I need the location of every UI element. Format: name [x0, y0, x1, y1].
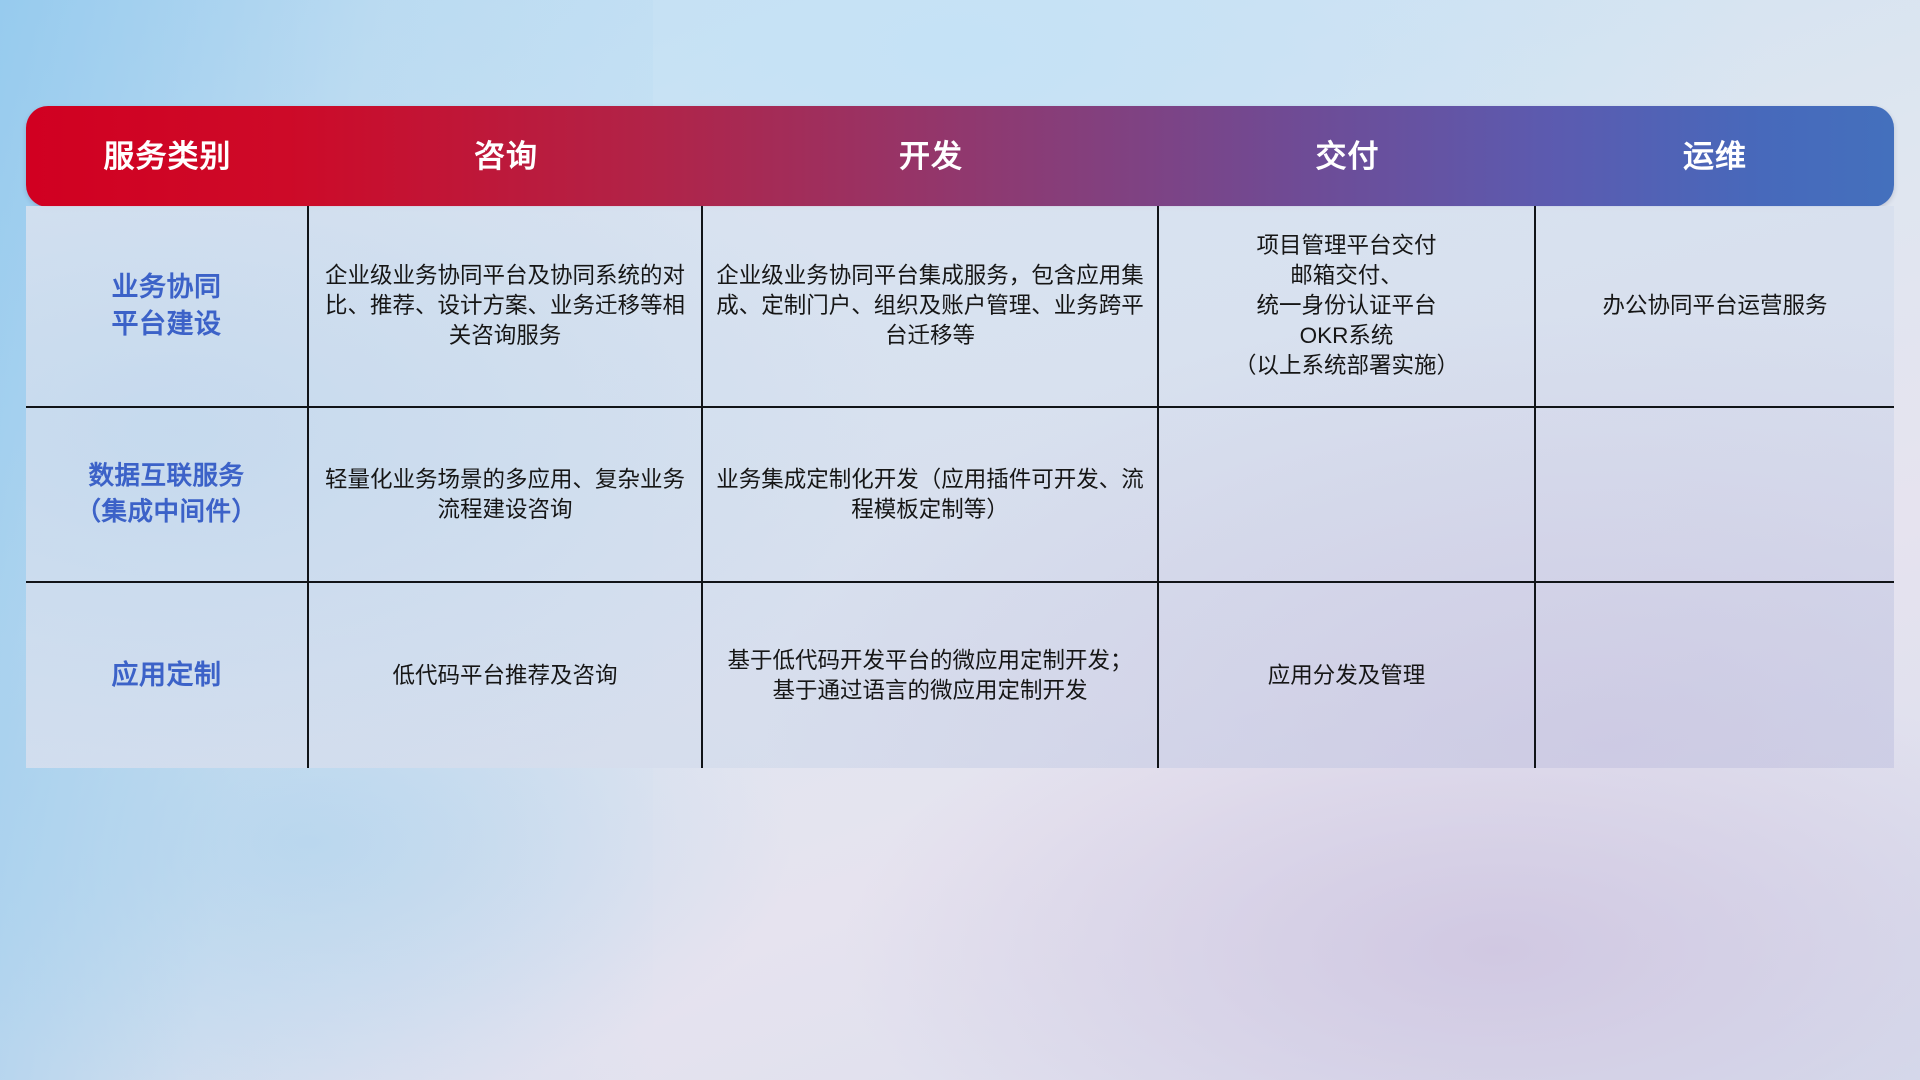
cell-consulting-row1: 企业级业务协同平台及协同系统的对比、推荐、设计方案、业务迁移等相关咨询服务	[309, 206, 703, 406]
cell-development-row2: 业务集成定制化开发（应用插件可开发、流程模板定制等）	[703, 406, 1159, 581]
column-header-delivery: 交付	[1159, 141, 1536, 172]
column-header-operations: 运维	[1536, 141, 1894, 172]
cell-delivery-row3: 应用分发及管理	[1159, 581, 1536, 768]
table-row: 业务协同 平台建设 企业级业务协同平台及协同系统的对比、推荐、设计方案、业务迁移…	[26, 206, 1894, 406]
cell-operations-row1: 办公协同平台运营服务	[1536, 206, 1894, 406]
cell-delivery-row2	[1159, 406, 1536, 581]
table-row: 数据互联服务 （集成中间件） 轻量化业务场景的多应用、复杂业务流程建设咨询 业务…	[26, 406, 1894, 581]
row-label-app-customization: 应用定制	[26, 581, 309, 768]
column-header-development: 开发	[703, 141, 1159, 172]
table-body: 业务协同 平台建设 企业级业务协同平台及协同系统的对比、推荐、设计方案、业务迁移…	[26, 206, 1894, 768]
cell-operations-row3	[1536, 581, 1894, 768]
row-label-data-interconnect: 数据互联服务 （集成中间件）	[26, 406, 309, 581]
cell-consulting-row3: 低代码平台推荐及咨询	[309, 581, 703, 768]
cell-operations-row2	[1536, 406, 1894, 581]
table-row: 应用定制 低代码平台推荐及咨询 基于低代码开发平台的微应用定制开发； 基于通过语…	[26, 581, 1894, 768]
cell-development-row3: 基于低代码开发平台的微应用定制开发； 基于通过语言的微应用定制开发	[703, 581, 1159, 768]
service-matrix-table: 服务类别 咨询 开发 交付 运维 业务协同 平台建设 企业级业务协同平台及协同系…	[26, 106, 1894, 768]
cell-delivery-row1: 项目管理平台交付 邮箱交付、 统一身份认证平台 OKR系统 （以上系统部署实施）	[1159, 206, 1536, 406]
column-header-consulting: 咨询	[309, 141, 703, 172]
cell-consulting-row2: 轻量化业务场景的多应用、复杂业务流程建设咨询	[309, 406, 703, 581]
row-label-business-collaboration: 业务协同 平台建设	[26, 206, 309, 406]
column-header-category: 服务类别	[26, 141, 309, 172]
cell-development-row1: 企业级业务协同平台集成服务，包含应用集成、定制门户、组织及账户管理、业务跨平台迁…	[703, 206, 1159, 406]
table-header-row: 服务类别 咨询 开发 交付 运维	[26, 106, 1894, 207]
